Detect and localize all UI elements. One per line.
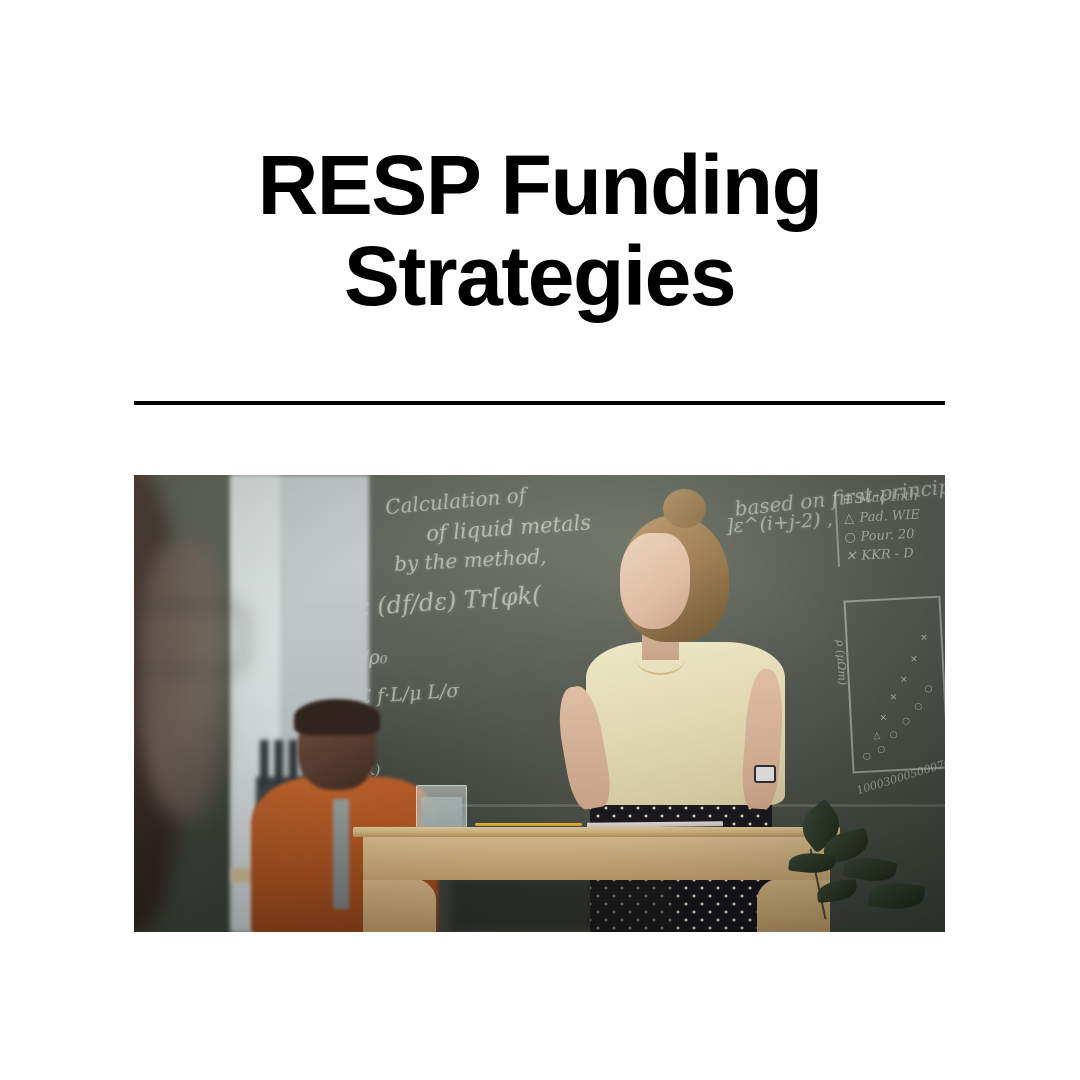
plot-point: ✕ [879,714,887,724]
legend-label: KKR - D [861,544,914,566]
chalkboard-scatter-plot: ρ (μΩm) ○ △ ✕ ✕ ✕ ✕ ✕ ○ ○ ○ ○ ○ 1000 300… [843,596,945,774]
presenter-face [620,533,690,630]
plot-y-axis-label: ρ (μΩm) [833,640,848,686]
glasses-icon [134,604,246,672]
seated-person-hair [294,699,380,736]
desk-shadow [450,877,674,932]
plot-point: ✕ [910,655,918,665]
presenter-hair-bun [663,489,706,528]
seated-person-tie [333,799,349,909]
water-glass [416,785,467,831]
plot-point: ○ [901,716,909,726]
plot-point: ✕ [889,693,897,703]
legend-label: Pour. 20 [860,525,915,547]
poster-canvas: RESP Funding Strategies Calculation of o… [0,0,1080,1080]
pencil [475,823,582,826]
plot-point: ✕ [900,676,908,686]
desk-top [353,827,840,838]
plot-point: △ [873,731,880,741]
plot-point: ✕ [920,634,928,644]
legend-square-icon: ⊟ [842,491,854,510]
plot-point: ○ [877,745,885,755]
plot-point: ○ [889,731,897,741]
plot-point: ○ [924,685,932,695]
plant-leaf [816,879,858,904]
plant-leaf [868,881,926,912]
legend-triangle-icon: △ [843,510,855,529]
plant [783,804,937,932]
legend-circle-icon: ○ [844,528,856,547]
title-divider [134,401,945,405]
plant-leaf [788,850,836,875]
desk [353,827,840,932]
desk-apron [363,836,830,880]
desk-leg-left [363,877,436,932]
page-title: RESP Funding Strategies [134,140,945,321]
hero-photo: Calculation of of liquid metals by the m… [134,475,945,932]
smart-watch [754,765,777,783]
chalkboard-legend: ⊟ Mac Inth △ Pad. WIE ○ Pour. 20 ✕ KKR -… [834,486,945,567]
plot-point: ○ [914,702,922,712]
foreground-face [140,542,222,818]
title-block: RESP Funding Strategies [134,140,945,321]
plot-point: ○ [862,752,870,762]
legend-cross-icon: ✕ [845,547,857,566]
